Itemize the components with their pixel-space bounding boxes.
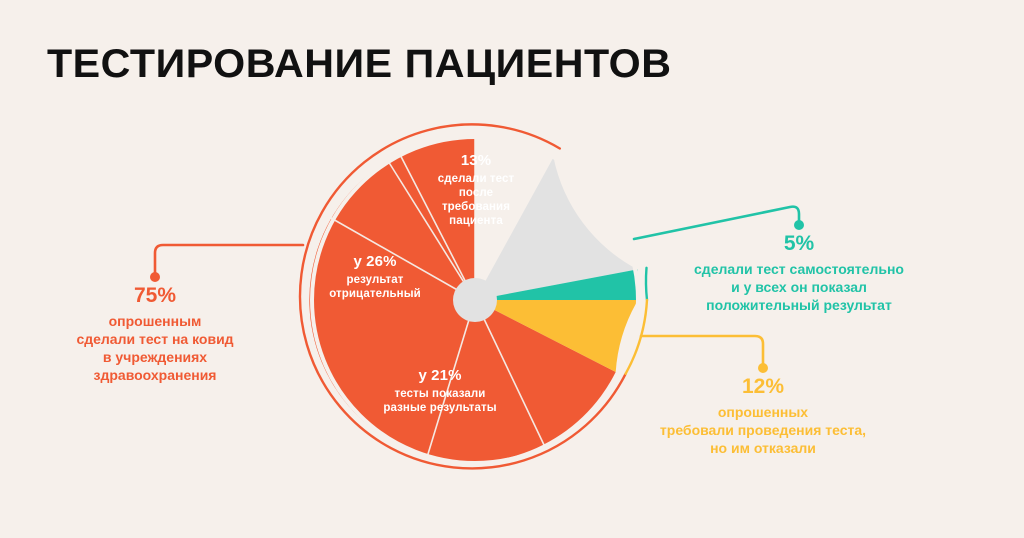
callout-5-line-1: сделали тест самостоятельно <box>694 261 904 277</box>
callout-5-line-2: и у всех он показал <box>731 279 867 295</box>
callout-12-pct: 12% <box>633 374 893 401</box>
callout-75-line-2: сделали тест на ковид <box>76 331 233 347</box>
callout-75: 75% опрошенным сделали тест на ковид в у… <box>45 283 265 385</box>
callout-12-line-3: но им отказали <box>710 440 816 456</box>
pie-center-hole <box>453 278 497 322</box>
callout-12-line-2: требовали проведения теста, <box>660 422 866 438</box>
callout-75-line-1: опрошенным <box>109 313 202 329</box>
outer-arc-teal <box>646 268 647 300</box>
leader-line-75 <box>150 245 303 282</box>
callout-75-line-3: в учреждениях <box>103 349 207 365</box>
callout-12: 12% опрошенных требовали проведения тест… <box>633 374 893 458</box>
pie-slices <box>309 137 638 463</box>
infographic-canvas: ТЕСТИРОВАНИЕ ПАЦИЕНТОВ <box>0 0 1024 538</box>
callout-5-line-3: положительный результат <box>706 297 892 313</box>
callout-12-line-1: опрошенных <box>718 404 808 420</box>
callout-5: 5% сделали тест самостоятельно и у всех … <box>669 231 929 315</box>
callout-75-line-4: здравоохранения <box>94 367 217 383</box>
callout-75-pct: 75% <box>45 283 265 310</box>
leader-line-12 <box>641 336 768 373</box>
callout-5-pct: 5% <box>669 231 929 258</box>
